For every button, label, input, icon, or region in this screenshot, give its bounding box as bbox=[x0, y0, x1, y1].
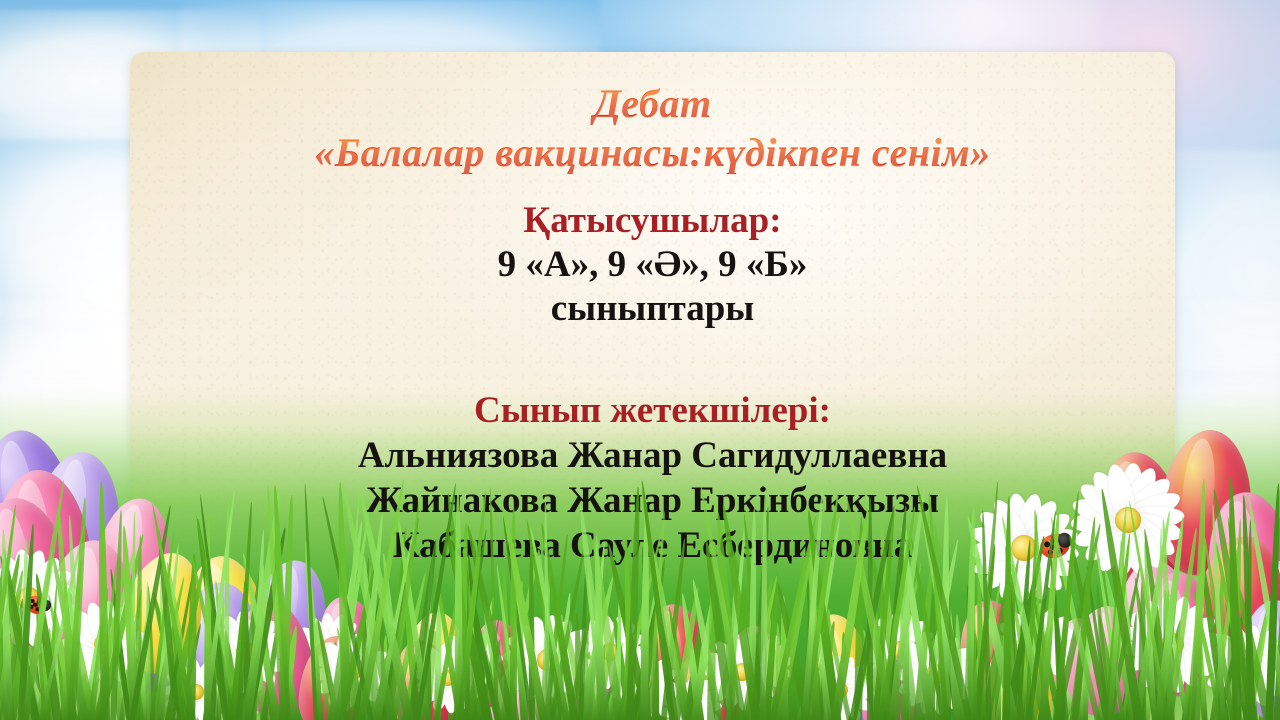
slide-title-line-1: Дебат bbox=[130, 82, 1175, 125]
class-leader-name-1: Альниязова Жанар Сагидуллаевна bbox=[130, 435, 1175, 477]
participants-heading: Қатысушылар: bbox=[130, 200, 1175, 241]
presentation-slide: Дебат «Балалар вакцинасы:күдікпен сенім»… bbox=[0, 0, 1280, 720]
participants-classes-suffix: сыныптары bbox=[130, 288, 1175, 330]
participants-classes: 9 «А», 9 «Ә», 9 «Б» bbox=[130, 244, 1175, 286]
class-leaders-heading: Сынып жетекшілері: bbox=[130, 390, 1175, 431]
participants-block: Қатысушылар: 9 «А», 9 «Ә», 9 «Б» сыныпта… bbox=[130, 200, 1175, 330]
ladybug-spot bbox=[33, 603, 37, 607]
slide-title-line-2: «Балалар вакцинасы:күдікпен сенім» bbox=[130, 131, 1175, 174]
slide-content: Дебат «Балалар вакцинасы:күдікпен сенім»… bbox=[130, 52, 1175, 567]
